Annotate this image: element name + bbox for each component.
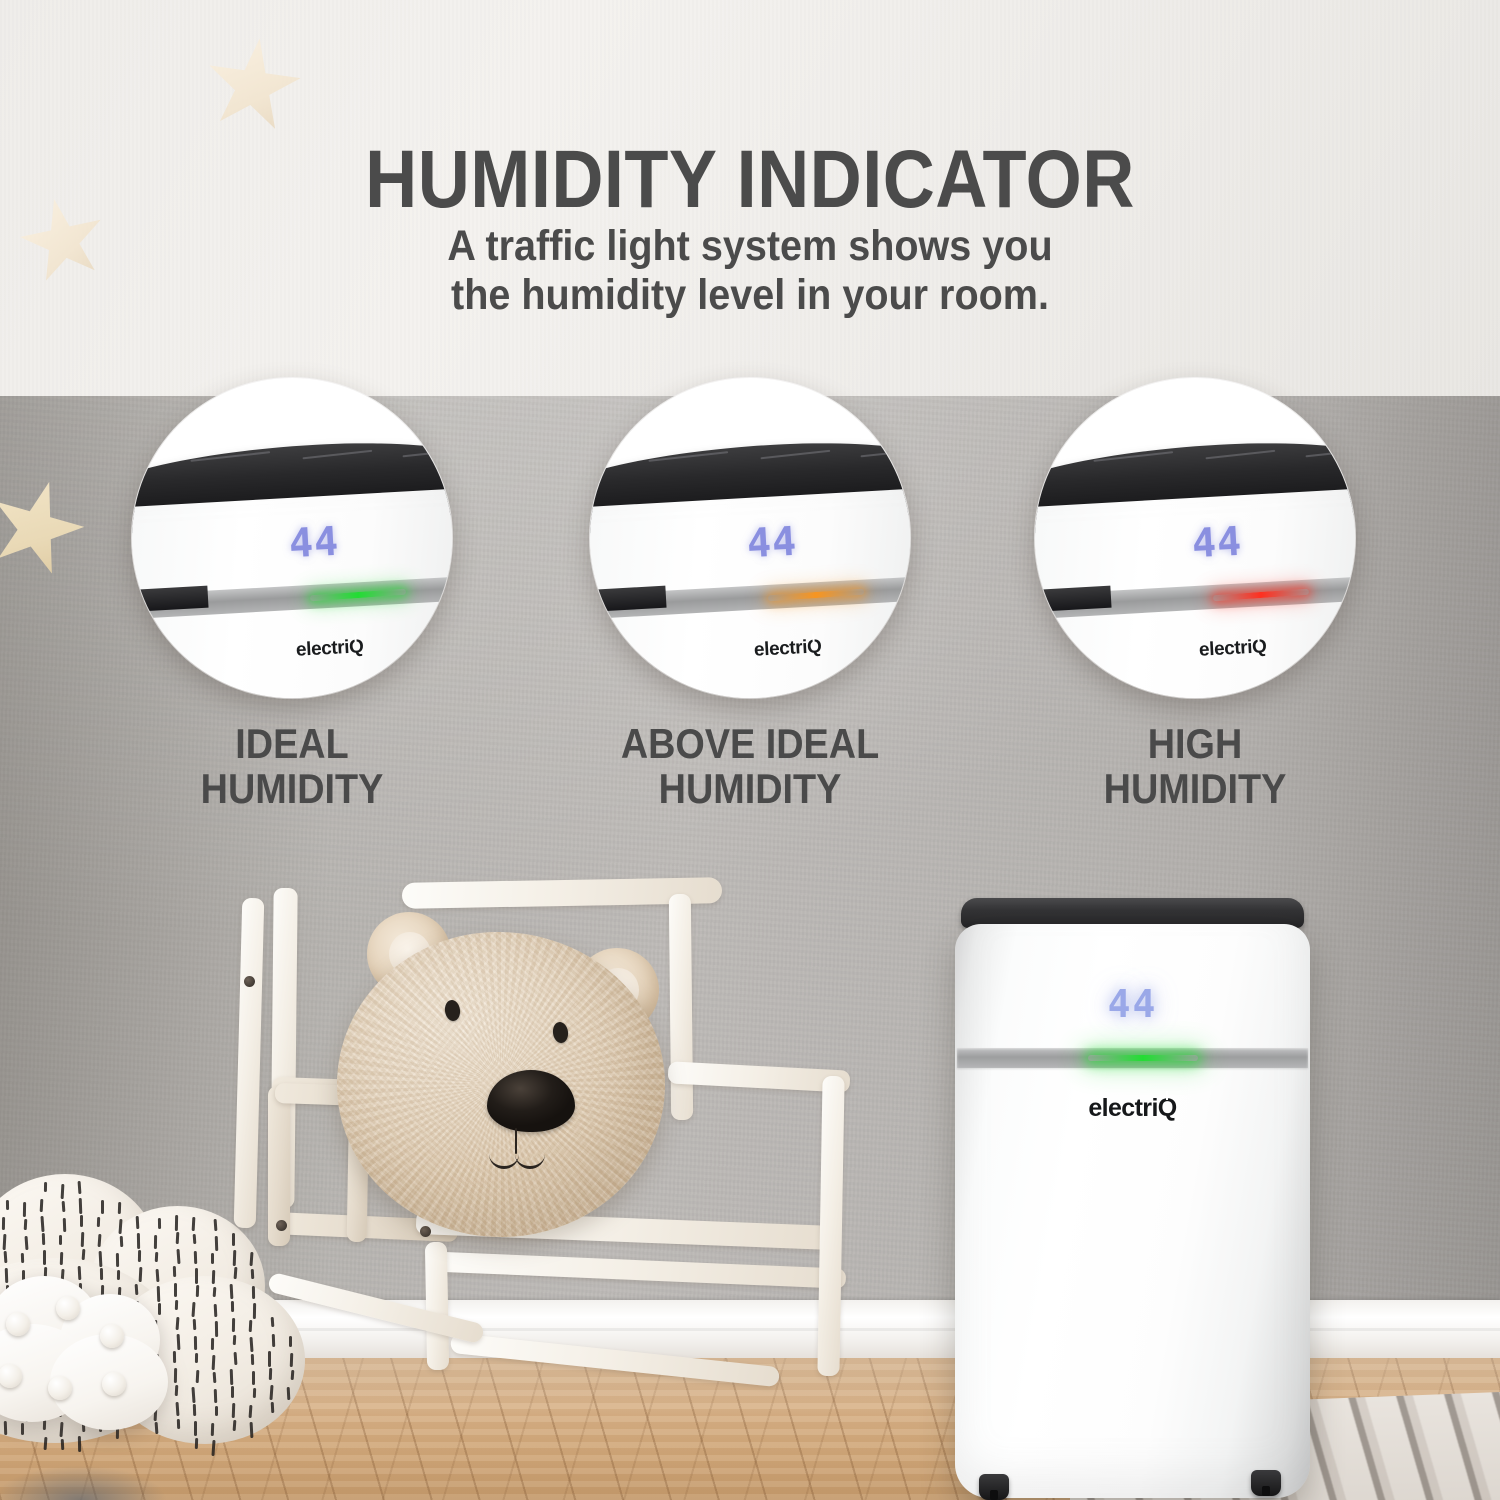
callout-caption: ABOVE IDEAL HUMIDITY <box>606 722 894 811</box>
teddy-head <box>337 932 665 1237</box>
callout-bubble: 44 electriQ <box>132 378 452 698</box>
zoom-brand-logo: electriQ <box>295 636 364 662</box>
brand-q-icon: Q <box>349 636 365 659</box>
lamp-bulb <box>56 1296 80 1320</box>
chair-screw <box>276 1220 287 1231</box>
unit-humidity-display: 44 <box>955 982 1310 1026</box>
brand-q-icon: Q <box>1158 1094 1177 1123</box>
unit-caster-left <box>979 1474 1009 1500</box>
callout-group: 44 electriQ IDEAL HUMIDITY <box>0 0 1500 900</box>
teddy-nose <box>487 1070 575 1132</box>
callout-caption: IDEAL HUMIDITY <box>148 722 436 811</box>
teddy-bear-cushion <box>325 918 677 1248</box>
chair-front-leg-left <box>425 1242 449 1370</box>
callout-bubble: 44 electriQ <box>590 378 910 698</box>
zoom-humidity-display: 44 <box>1191 519 1244 568</box>
zoomed-product-crop: 44 electriQ <box>590 378 910 698</box>
callout-above-ideal-humidity[interactable]: 44 electriQ ABOVE IDEAL HUMIDITY <box>590 378 910 811</box>
chair-front-leg-right <box>817 1076 844 1376</box>
zoomed-product-crop: 44 electriQ <box>132 378 452 698</box>
dehumidifier-unit: 44 electriQ <box>955 898 1310 1498</box>
brand-text: electri <box>753 637 807 661</box>
chair-back-post-left <box>234 898 265 1228</box>
chair-seat-rail-lower <box>426 1251 846 1289</box>
lamp-bulb <box>6 1312 30 1336</box>
unit-body: 44 electriQ <box>955 924 1310 1498</box>
zoom-brand-logo: electriQ <box>753 636 822 662</box>
brand-text: electri <box>1198 637 1252 661</box>
infographic-canvas: 44 electriQ HUMIDITY INDICATOR A traffic… <box>0 0 1500 1500</box>
callout-high-humidity[interactable]: 44 electriQ HIGH HUMIDITY <box>1035 378 1355 811</box>
lamp-bulb <box>102 1372 126 1396</box>
unit-humidity-led <box>1088 1055 1198 1061</box>
unit-caster-right <box>1251 1470 1281 1496</box>
cloud-marquee-lamp <box>0 1268 172 1443</box>
callout-bubble: 44 electriQ <box>1035 378 1355 698</box>
zoom-brand-logo: electriQ <box>1198 636 1267 662</box>
chair-screw <box>244 976 255 987</box>
zoomed-product-crop: 44 electriQ <box>1035 378 1355 698</box>
zoom-humidity-display: 44 <box>288 519 341 568</box>
brand-q-icon: Q <box>807 636 823 659</box>
lamp-bulb <box>48 1376 72 1400</box>
lamp-bulb <box>100 1324 124 1348</box>
zoom-humidity-display: 44 <box>746 519 799 568</box>
chair-rocker-left <box>450 1333 780 1387</box>
unit-brand-logo: electriQ <box>955 1094 1310 1123</box>
chair-rocker-front <box>267 1272 485 1345</box>
callout-caption: HIGH HUMIDITY <box>1051 722 1339 811</box>
callout-ideal-humidity[interactable]: 44 electriQ IDEAL HUMIDITY <box>132 378 452 811</box>
brand-text: electri <box>1088 1094 1157 1122</box>
brand-q-icon: Q <box>1252 636 1268 659</box>
brand-text: electri <box>295 637 349 661</box>
